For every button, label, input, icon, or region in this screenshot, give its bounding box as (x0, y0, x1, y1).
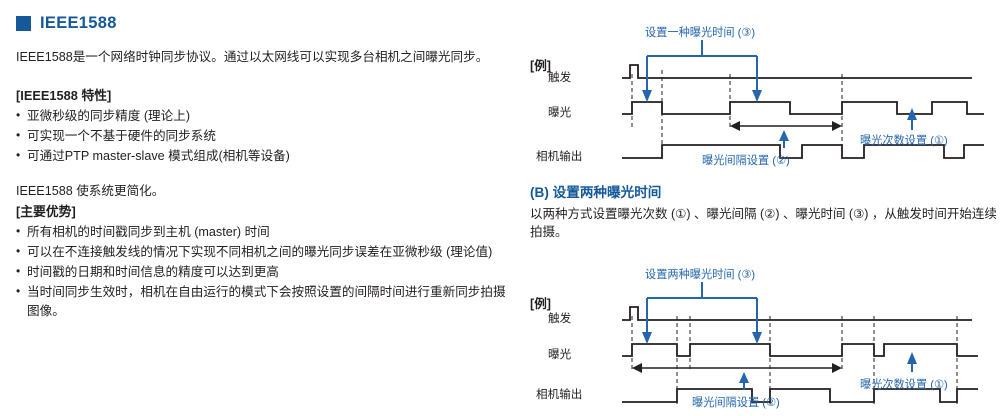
section-b-title: (B) 设置两种曝光时间 (530, 184, 1000, 202)
simplify-line: IEEE1588 使系统更简化。 (16, 182, 508, 202)
bracket-exposure-time-bottom (647, 282, 757, 334)
waveform-exposure-bottom (622, 344, 978, 356)
annotation-exposure-time-bottom: 设置两种曝光时间 (③) (645, 267, 755, 281)
advantages-heading: [主要优势] (16, 202, 508, 221)
arrow-left-interval-bottom (632, 363, 642, 373)
waveform-trigger-top (622, 65, 972, 78)
square-bullet-icon (16, 16, 31, 31)
left-content-column: IEEE1588 IEEE1588是一个网络时钟同步协议。通过以太网线可以实现多… (16, 14, 508, 338)
arrow-down-left-top (642, 90, 652, 102)
arrow-up-interval-top (779, 130, 789, 141)
list-item: 时间戳的日期和时间信息的精度可以达到更高 (16, 263, 508, 282)
arrow-up-count-bottom (907, 352, 917, 364)
list-item: 亚微秒级的同步精度 (理论上) (16, 107, 508, 126)
row-label-trigger-bottom: 触发 (548, 311, 572, 325)
timing-diagram-top: [例] 触发 曝光 相机输出 (512, 8, 1000, 180)
timing-diagram-bottom-svg: [例] 触发 曝光 相机输出 (512, 262, 1000, 416)
annotation-interval-bottom: 曝光间隔设置 (②) (692, 395, 780, 409)
list-item: 当时间同步生效时，相机在自由运行的模式下会按照设置的间隔时间进行重新同步拍摄图像… (16, 283, 508, 321)
list-item: 可通过PTP master-slave 模式组成(相机等设备) (16, 147, 508, 166)
timing-diagram-top-svg: [例] 触发 曝光 相机输出 (512, 8, 1000, 180)
annotation-count-bottom: 曝光次数设置 (①) (860, 377, 948, 391)
arrow-right-interval-bottom (832, 363, 842, 373)
arrow-down-left-bottom (642, 332, 652, 344)
bracket-exposure-time-top (647, 40, 757, 92)
intro-paragraph: IEEE1588是一个网络时钟同步协议。通过以太网线可以实现多台相机之间曝光同步… (16, 48, 508, 68)
timing-diagram-bottom: [例] 触发 曝光 相机输出 (512, 262, 1000, 416)
arrow-left-interval-top (730, 121, 740, 131)
section-b-text: 以两种方式设置曝光次数 (①) 、曝光间隔 (②) 、曝光时间 (③) ，从触发… (530, 205, 1000, 243)
arrow-down-right-bottom (752, 332, 762, 344)
row-label-exposure-top: 曝光 (548, 105, 572, 119)
list-item: 可实现一个不基于硬件的同步系统 (16, 127, 508, 146)
list-item: 所有相机的时间戳同步到主机 (master) 时间 (16, 223, 508, 242)
row-label-camera-output-bottom: 相机输出 (536, 387, 582, 401)
section-header: IEEE1588 (16, 14, 508, 33)
page-title: IEEE1588 (40, 14, 117, 33)
features-list: 亚微秒级的同步精度 (理论上) 可实现一个不基于硬件的同步系统 可通过PTP m… (16, 107, 508, 166)
annotation-interval-top: 曝光间隔设置 (②) (702, 153, 790, 167)
right-diagram-column: [例] 触发 曝光 相机输出 (512, 0, 1000, 416)
waveform-exposure-top (622, 102, 984, 114)
row-label-exposure-bottom: 曝光 (548, 347, 572, 361)
example-label-bottom: [例] (530, 296, 551, 311)
row-label-camera-output-top: 相机输出 (536, 149, 582, 163)
section-b-block: (B) 设置两种曝光时间 以两种方式设置曝光次数 (①) 、曝光间隔 (②) 、… (530, 184, 1000, 242)
annotation-exposure-time-top: 设置一种曝光时间 (③) (645, 25, 755, 39)
annotation-count-top: 曝光次数设置 (①) (860, 133, 948, 147)
list-item: 可以在不连接触发线的情况下实现不同相机之间的曝光同步误差在亚微秒级 (理论值) (16, 243, 508, 262)
waveform-trigger-bottom (622, 307, 972, 320)
arrow-up-interval-bottom (739, 372, 749, 383)
arrow-right-interval-top (832, 121, 842, 131)
arrow-down-right-top (752, 90, 762, 102)
features-heading: [IEEE1588 特性] (16, 86, 508, 105)
row-label-trigger-top: 触发 (548, 70, 572, 84)
advantages-list: 所有相机的时间戳同步到主机 (master) 时间 可以在不连接触发线的情况下实… (16, 223, 508, 322)
page-root: IEEE1588 IEEE1588是一个网络时钟同步协议。通过以太网线可以实现多… (0, 0, 1000, 416)
